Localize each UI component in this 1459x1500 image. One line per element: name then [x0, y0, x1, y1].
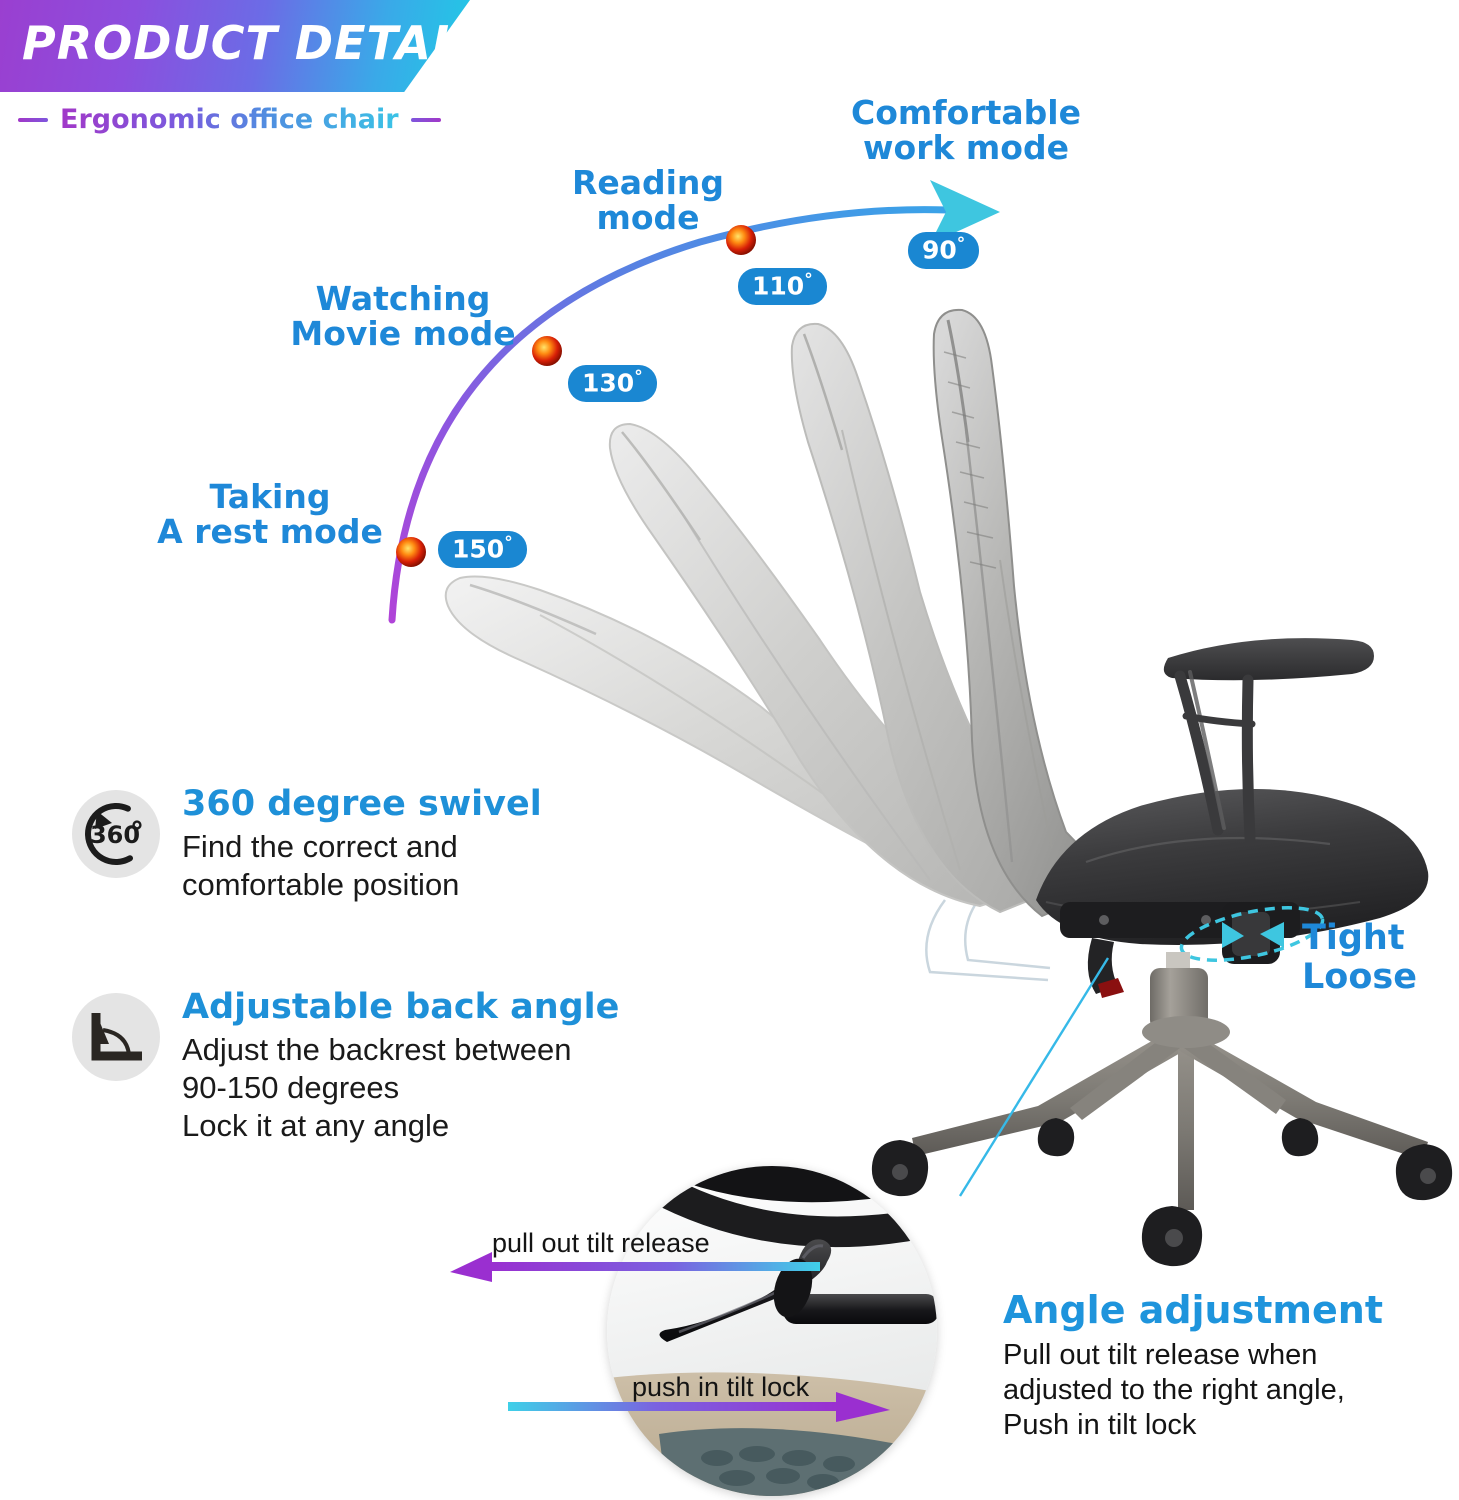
mode-label-watching: Watching Movie mode	[268, 282, 538, 352]
mode-label-taking: Taking A rest mode	[130, 480, 410, 550]
angle-adjustment-block: Angle adjustment Pull out tilt release w…	[1003, 1288, 1453, 1442]
dash-left-icon	[18, 118, 48, 122]
feature-adjustable-back-angle: Adjustable back angle Adjust the backres…	[72, 985, 832, 1144]
angle-adjustment-description: Pull out tilt release when adjusted to t…	[1003, 1338, 1453, 1442]
page-title: PRODUCT DETAILS	[22, 16, 515, 70]
product-details-infographic: PRODUCT DETAILS Ergonomic office chair C…	[0, 0, 1459, 1500]
feature-title: 360 degree swivel	[182, 784, 542, 824]
angle-badge-110: 110°	[738, 268, 827, 305]
angle-value-110: 110	[752, 271, 804, 300]
degree-symbol-icon: °	[634, 367, 643, 387]
feature-description: Find the correct and comfortable positio…	[182, 828, 542, 904]
subtitle-text: Ergonomic office chair	[60, 104, 399, 135]
angle-value-150: 150	[452, 534, 504, 563]
subtitle: Ergonomic office chair	[18, 104, 441, 135]
back-angle-icon	[72, 993, 160, 1081]
swivel-360-icon: 360	[72, 790, 160, 878]
dash-right-icon	[411, 118, 441, 122]
tension-knob-label: Tight Loose	[1302, 919, 1417, 997]
angle-value-90: 90	[922, 235, 957, 264]
feature-text-block: Adjustable back angle Adjust the backres…	[182, 985, 619, 1144]
angle-badge-90: 90°	[908, 232, 979, 269]
feature-description: Adjust the backrest between 90-150 degre…	[182, 1031, 619, 1144]
callout-push-in-tilt-lock: push in tilt lock	[632, 1372, 809, 1403]
degree-symbol-icon: °	[504, 533, 513, 553]
angle-value-130: 130	[582, 368, 634, 397]
leader-line	[960, 958, 1108, 1196]
feature-title: Adjustable back angle	[182, 987, 619, 1027]
angle-adjustment-title: Angle adjustment	[1003, 1288, 1453, 1332]
angle-badge-150: 150°	[438, 531, 527, 568]
degree-symbol-icon: °	[957, 234, 966, 254]
mode-label-reading: Reading mode	[548, 166, 748, 236]
degree-symbol-icon: °	[804, 270, 813, 290]
mode-label-comfortable: Comfortable work mode	[826, 96, 1106, 166]
feature-360-swivel: 360 360 degree swivel Find the correct a…	[72, 782, 772, 904]
angle-badge-130: 130°	[568, 365, 657, 402]
feature-text-block: 360 degree swivel Find the correct and c…	[182, 782, 542, 904]
callout-pull-out-tilt-release: pull out tilt release	[492, 1228, 710, 1259]
